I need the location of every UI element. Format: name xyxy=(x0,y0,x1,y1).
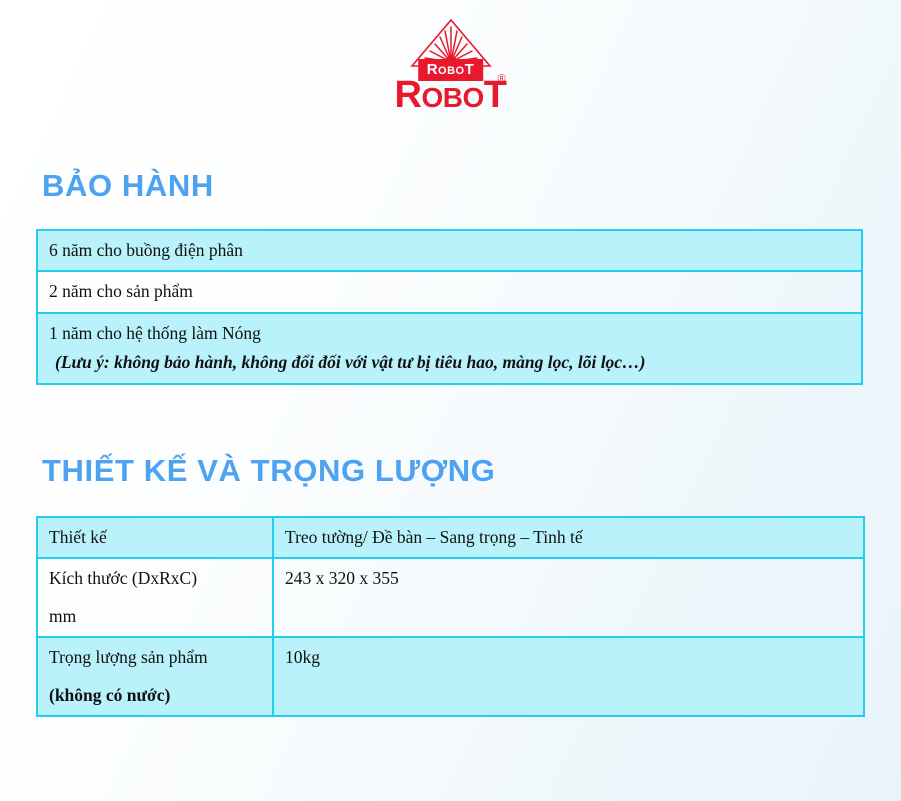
design-row-1-value: Treo tường/ Đề bàn – Sang trọng – Tinh t… xyxy=(273,517,864,558)
table-row: Trọng lượng sản phẩm (không có nước) 10k… xyxy=(37,637,864,716)
logo-banner-obo: OBO xyxy=(438,65,465,77)
warranty-section-heading: BẢO HÀNH xyxy=(42,170,214,201)
warranty-row-3-cell: 1 năm cho hệ thống làm Nóng (Lưu ý: khôn… xyxy=(37,313,862,384)
design-row-2-label-line2: mm xyxy=(49,604,262,629)
logo-inner: ROBOT ROBOT ® xyxy=(361,18,541,110)
wordmark-obo: OBO xyxy=(421,82,483,113)
design-weight-table: Thiết kế Treo tường/ Đề bàn – Sang trọng… xyxy=(36,516,865,717)
logo-banner-t: T xyxy=(465,61,475,78)
logo-wordmark: ROBOT xyxy=(395,76,507,114)
table-row: 6 năm cho buồng điện phân xyxy=(37,230,862,271)
logo-banner-text: ROBOT xyxy=(418,59,484,81)
design-row-3-label: Trọng lượng sản phẩm (không có nước) xyxy=(37,637,273,716)
design-row-3-label-line2: (không có nước) xyxy=(49,683,262,708)
warranty-table: 6 năm cho buồng điện phân 2 năm cho sản … xyxy=(36,229,863,385)
table-row: 1 năm cho hệ thống làm Nóng (Lưu ý: khôn… xyxy=(37,313,862,384)
warranty-row-3-note: (Lưu ý: không bảo hành, không đổi đối vớ… xyxy=(49,350,851,375)
design-row-2-value: 243 x 320 x 355 xyxy=(273,558,864,637)
logo-banner-r: R xyxy=(427,61,438,78)
design-row-3-label-line1: Trọng lượng sản phẩm xyxy=(49,647,208,667)
table-row: Thiết kế Treo tường/ Đề bàn – Sang trọng… xyxy=(37,517,864,558)
design-row-2-label-line1: Kích thước (DxRxC) xyxy=(49,568,197,588)
design-row-2-label: Kích thước (DxRxC) mm xyxy=(37,558,273,637)
table-row: 2 năm cho sản phẩm xyxy=(37,271,862,312)
design-section-heading: THIẾT KẾ VÀ TRỌNG LƯỢNG xyxy=(42,455,495,486)
brand-logo: ROBOT ROBOT ® xyxy=(0,18,901,110)
product-spec-page: ROBOT ROBOT ® BẢO HÀNH 6 năm cho buồng đ… xyxy=(0,0,901,801)
design-row-1-label: Thiết kế xyxy=(37,517,273,558)
design-row-3-value: 10kg xyxy=(273,637,864,716)
registered-trademark-icon: ® xyxy=(498,74,506,85)
warranty-row-2-cell: 2 năm cho sản phẩm xyxy=(37,271,862,312)
warranty-row-3-main-text: 1 năm cho hệ thống làm Nóng xyxy=(49,323,261,343)
warranty-row-1-cell: 6 năm cho buồng điện phân xyxy=(37,230,862,271)
table-row: Kích thước (DxRxC) mm 243 x 320 x 355 xyxy=(37,558,864,637)
